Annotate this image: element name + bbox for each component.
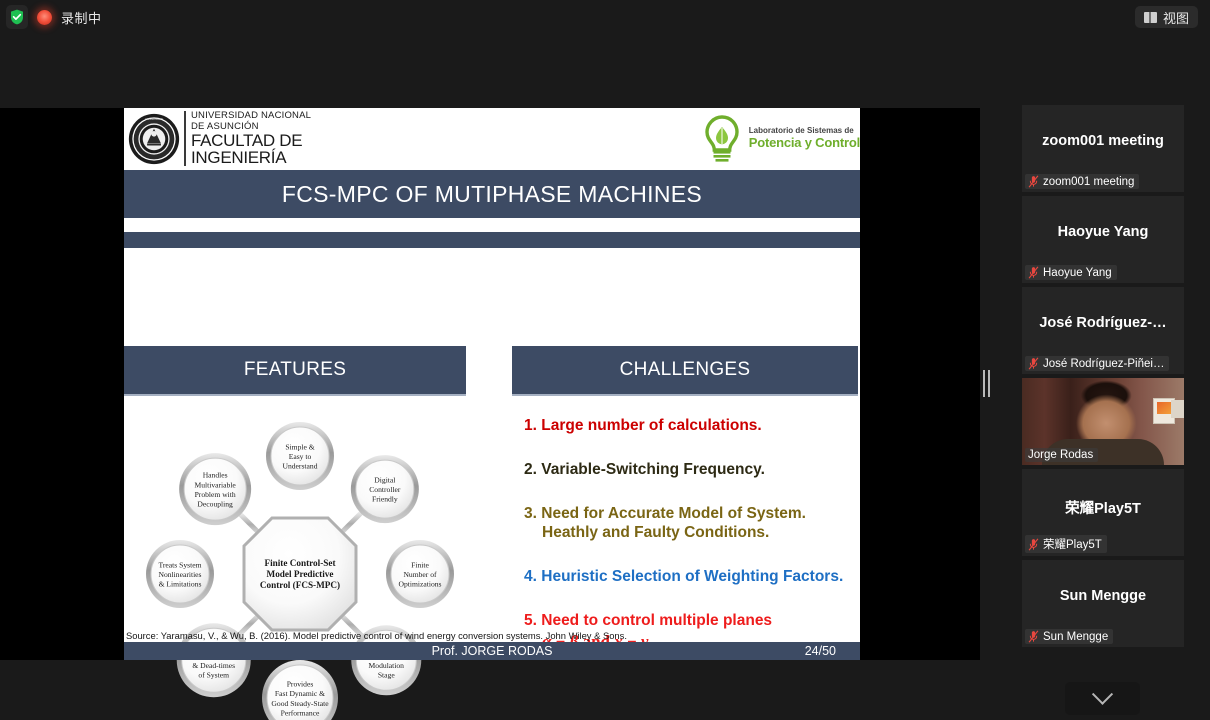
participant-badge-label: Sun Mengge <box>1043 631 1108 643</box>
mic-muted-icon <box>1028 266 1039 279</box>
participant-tile[interactable]: José Rodríguez-…José Rodríguez-Piñei… <box>1022 287 1184 374</box>
diagram-node-label: Nonlinearities <box>158 570 201 579</box>
shield-check-icon[interactable] <box>6 5 28 29</box>
diagram-node-provides: ProvidesFast Dynamic &Good Steady-StateP… <box>262 660 338 720</box>
participant-name-badge: zoom001 meeting <box>1025 174 1139 189</box>
challenge-3-num: 3. <box>524 505 537 522</box>
lab-name-block: Laboratorio de Sistemas de Potencia y Co… <box>749 127 860 150</box>
slide-title: FCS-MPC OF MUTIPHASE MACHINES <box>282 181 702 208</box>
challenge-5-num: 5. <box>524 612 537 629</box>
challenges-list: 1. Large number of calculations. 2. Vari… <box>524 416 854 653</box>
diagram-node-label: Provides <box>287 680 314 689</box>
participant-name-badge: José Rodríguez-Piñei… <box>1025 356 1169 371</box>
lab-line2: Potencia y Control <box>749 136 860 150</box>
diagram-node-label: Stage <box>378 671 396 680</box>
diagram-node-label: Multivariable <box>194 480 236 489</box>
challenge-2-num: 2. <box>524 461 537 478</box>
recording-indicator-group: 录制中 <box>6 5 102 29</box>
shared-screen-area[interactable]: UNIVERSIDAD UNIVERSIDAD NACIONAL DE ASUN… <box>0 108 980 660</box>
slide-subbar <box>124 232 860 248</box>
challenges-heading-box: CHALLENGES <box>512 346 858 394</box>
diagram-center-line-3: Control (FCS-MPC) <box>260 580 340 590</box>
university-line4: INGENIERÍA <box>191 149 311 166</box>
participant-name: 荣耀Play5T <box>1022 497 1184 518</box>
scroll-down-button[interactable] <box>1065 682 1140 715</box>
diagram-node-treats: Treats SystemNonlinearities& Limitations <box>146 540 214 608</box>
participant-tile[interactable]: zoom001 meetingzoom001 meeting <box>1022 105 1184 192</box>
challenge-item-2: 2. Variable-Switching Frequency. <box>524 460 854 480</box>
participant-badge-label: 荣耀Play5T <box>1043 536 1102 552</box>
drag-handle-icon[interactable] <box>983 370 991 397</box>
challenge-2-text: Variable-Switching Frequency. <box>541 461 765 478</box>
diagram-node-label: Finite <box>411 560 429 569</box>
mic-muted-icon <box>1028 357 1039 370</box>
features-heading: FEATURES <box>244 359 346 381</box>
diagram-node-label: Fast Dynamic & <box>275 689 325 698</box>
challenge-4-text: Heuristic Selection of Weighting Factors… <box>541 568 843 585</box>
mic-muted-icon <box>1028 175 1039 188</box>
slide-footer: Prof. JORGE RODAS 24/50 <box>124 642 860 660</box>
university-line3: FACULTAD DE <box>191 132 311 149</box>
participant-tile[interactable]: Haoyue YangHaoyue Yang <box>1022 196 1184 283</box>
diagram-node-label: Number of <box>403 570 437 579</box>
recording-label: 录制中 <box>61 8 102 27</box>
slide-header: UNIVERSIDAD UNIVERSIDAD NACIONAL DE ASUN… <box>124 108 860 170</box>
challenge-item-1: 1. Large number of calculations. <box>524 416 854 436</box>
diagram-node-label: of System <box>198 671 229 680</box>
features-diagram: Finite Control-SetModel PredictiveContro… <box>130 400 470 720</box>
diagram-node-label: Understand <box>282 462 317 471</box>
slide-footer-page: 24/50 <box>805 644 836 658</box>
slide-title-bar: FCS-MPC OF MUTIPHASE MACHINES <box>124 170 860 218</box>
diagram-node-handles: HandlesMultivariableProblem withDecoupli… <box>179 453 251 525</box>
diagram-node-label: Simple & <box>285 442 314 451</box>
diagram-node-label: Performance <box>281 708 320 717</box>
participant-name: zoom001 meeting <box>1022 133 1184 149</box>
challenge-4-num: 4. <box>524 568 537 585</box>
diagram-center-line-2: Model Predictive <box>267 569 334 579</box>
participant-name-badge: 荣耀Play5T <box>1025 535 1107 553</box>
participant-name: Sun Mengge <box>1022 588 1184 604</box>
participant-name: Haoyue Yang <box>1022 224 1184 240</box>
participant-name-badge: Haoyue Yang <box>1025 265 1117 280</box>
challenge-item-4: 4. Heuristic Selection of Weighting Fact… <box>524 567 854 587</box>
diagram-node-label: & Limitations <box>159 580 202 589</box>
participant-badge-label: José Rodríguez-Piñei… <box>1043 358 1164 370</box>
diagram-node-label: Controller <box>369 485 401 494</box>
diagram-node-label: Friendly <box>372 495 398 504</box>
participant-badge-label: Jorge Rodas <box>1028 449 1093 461</box>
recording-dot-icon[interactable] <box>37 10 52 25</box>
zoom-meeting-window: 录制中 视图 <box>0 0 1210 709</box>
diagram-node-label: Modulation <box>369 661 405 670</box>
green-lightbulb-icon <box>700 114 744 164</box>
diagram-node-label: Decoupling <box>197 500 233 509</box>
chevron-down-icon <box>1092 684 1113 705</box>
university-name-block: UNIVERSIDAD NACIONAL DE ASUNCIÓN FACULTA… <box>184 111 311 166</box>
slide-source-citation: Source: Yaramasu, V., & Wu, B. (2016). M… <box>126 630 858 641</box>
diagram-node-label: Digital <box>374 476 395 485</box>
university-logo: UNIVERSIDAD UNIVERSIDAD NACIONAL DE ASUN… <box>128 111 311 166</box>
wall-picture-decor-2 <box>1171 400 1184 418</box>
slide-footer-presenter: Prof. JORGE RODAS <box>124 644 860 658</box>
mic-muted-icon <box>1028 630 1039 643</box>
slide-title-separator <box>124 218 860 232</box>
mic-muted-icon <box>1028 538 1039 551</box>
lab-logo: Laboratorio de Sistemas de Potencia y Co… <box>700 114 860 164</box>
challenge-1-text: Large number of calculations. <box>541 417 762 434</box>
svg-text:UNIVERSIDAD: UNIVERSIDAD <box>145 116 163 120</box>
participant-badge-label: Haoyue Yang <box>1043 267 1112 279</box>
diagram-node-label: Good Steady-State <box>271 699 329 708</box>
features-heading-box: FEATURES <box>124 346 466 394</box>
participant-tile[interactable]: Jorge Rodas <box>1022 378 1184 465</box>
challenge-1-num: 1. <box>524 417 537 434</box>
diagram-node-label: Handles <box>203 471 228 480</box>
participant-name: José Rodríguez-… <box>1022 315 1184 331</box>
participant-tile[interactable]: 荣耀Play5T荣耀Play5T <box>1022 469 1184 556</box>
top-bar: 录制中 视图 <box>0 0 1210 34</box>
diagram-node-finite: FiniteNumber ofOptimizations <box>386 540 454 608</box>
university-line2: DE ASUNCIÓN <box>191 122 311 132</box>
challenges-heading: CHALLENGES <box>620 359 751 381</box>
diagram-node-label: Optimizations <box>398 580 441 589</box>
view-button-label: 视图 <box>1163 8 1189 27</box>
diagram-node-label: & Dead-times <box>192 661 235 670</box>
challenge-3-text-line2: Heathly and Faulty Conditions. <box>524 523 854 543</box>
diagram-node-simple: Simple &Easy toUnderstand <box>266 422 334 490</box>
participant-name-badge: Jorge Rodas <box>1025 448 1098 462</box>
diagram-node-label: Problem with <box>195 490 236 499</box>
university-seal-icon: UNIVERSIDAD <box>128 112 180 166</box>
layout-view-icon <box>1144 12 1157 23</box>
diagram-node-label: Easy to <box>289 452 312 461</box>
university-line1: UNIVERSIDAD NACIONAL <box>191 111 311 121</box>
diagram-node-digital: DigitalControllerFriendly <box>351 455 419 523</box>
presentation-slide: UNIVERSIDAD UNIVERSIDAD NACIONAL DE ASUN… <box>124 108 860 660</box>
participant-name-badge: Sun Mengge <box>1025 629 1113 644</box>
participant-tile[interactable]: Sun MenggeSun Mengge <box>1022 560 1184 647</box>
challenge-item-3: 3. Need for Accurate Model of System. He… <box>524 504 854 544</box>
view-button[interactable]: 视图 <box>1135 6 1198 28</box>
diagram-center-line-1: Finite Control-Set <box>264 558 336 568</box>
participant-strip[interactable]: zoom001 meetingzoom001 meetingHaoyue Yan… <box>1022 105 1184 651</box>
challenge-3-text: Need for Accurate Model of System. <box>541 505 806 522</box>
challenge-5-text: Need to control multiple planes <box>541 612 772 629</box>
diagram-node-label: Treats System <box>159 560 202 569</box>
participant-badge-label: zoom001 meeting <box>1043 176 1134 188</box>
